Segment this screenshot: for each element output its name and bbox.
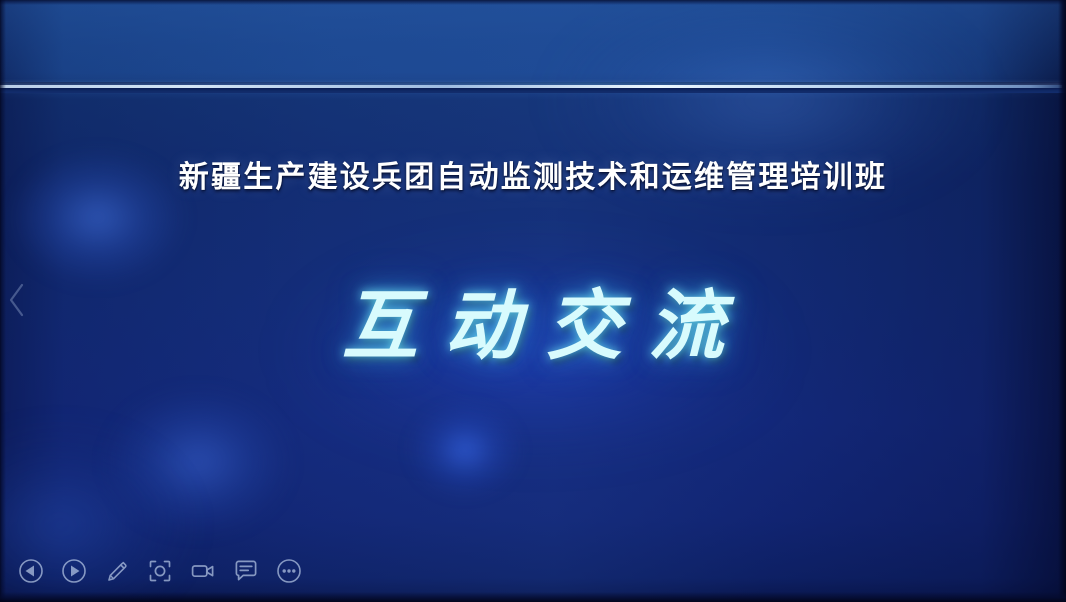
background-top-band <box>0 0 1066 82</box>
previous-chevron-icon[interactable] <box>6 282 28 318</box>
presentation-slide: 新疆生产建设兵团自动监测技术和运维管理培训班 互动交流 <box>0 0 1066 602</box>
pencil-icon <box>104 558 130 584</box>
video-camera-icon <box>190 558 216 584</box>
focus-button[interactable] <box>145 556 175 586</box>
header-divider <box>0 82 1066 94</box>
slide-toolbar <box>16 556 304 586</box>
edge-vignette-bottom <box>0 592 1066 602</box>
focus-frame-icon <box>147 558 173 584</box>
more-dots-icon <box>276 558 302 584</box>
more-button[interactable] <box>274 556 304 586</box>
edge-vignette-right <box>1058 0 1066 602</box>
divider-shade-bottom <box>0 88 1066 93</box>
chat-bubble-icon <box>233 558 259 584</box>
chat-button[interactable] <box>231 556 261 586</box>
record-button[interactable] <box>188 556 218 586</box>
previous-slide-button[interactable] <box>16 556 46 586</box>
annotate-button[interactable] <box>102 556 132 586</box>
play-next-icon <box>61 558 87 584</box>
edge-vignette-top <box>0 0 1066 5</box>
play-previous-icon <box>18 558 44 584</box>
slide-heading: 互动交流 <box>0 288 1066 368</box>
edge-vignette-left <box>0 0 6 602</box>
next-slide-button[interactable] <box>59 556 89 586</box>
slide-title: 新疆生产建设兵团自动监测技术和运维管理培训班 <box>0 152 1066 196</box>
